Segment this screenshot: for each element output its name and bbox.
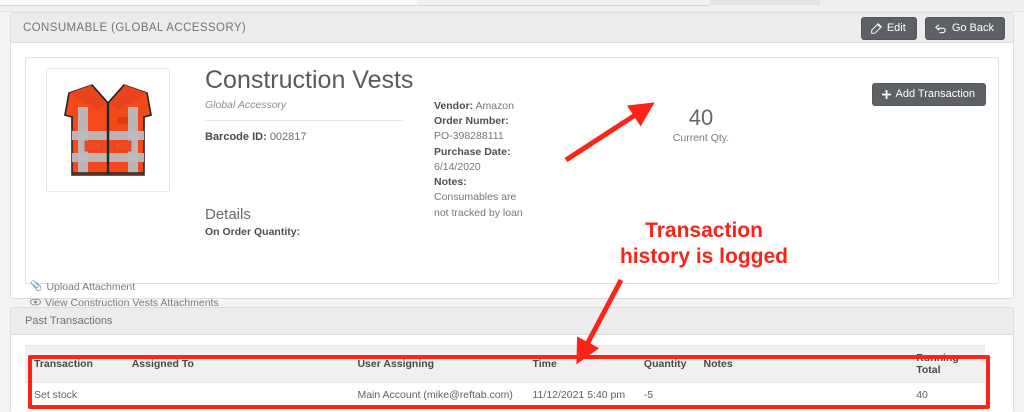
column-header-quantity[interactable]: Quantity <box>635 346 695 383</box>
cell-quantity: -5 <box>635 383 695 408</box>
asset-meta-block: Vendor: Amazon Order Number: PO-39828811… <box>434 99 544 221</box>
cell-notes <box>695 383 908 408</box>
go-back-button-label: Go Back <box>952 22 994 34</box>
details-heading: Details <box>205 206 300 223</box>
paperclip-icon: 📎 <box>30 279 42 295</box>
past-transactions-title: Past Transactions <box>25 315 112 327</box>
vendor-label: Vendor: <box>434 100 473 112</box>
cell-transaction: Set stock <box>25 383 123 408</box>
app-root: CONSUMABLE (GLOBAL ACCESSORY) Edit <box>0 0 1024 412</box>
asset-title-block: Construction Vests Global Accessory Barc… <box>205 66 425 143</box>
column-header-running-total[interactable]: Running Total <box>907 346 985 383</box>
upload-attachment-label: Upload Attachment <box>46 279 135 295</box>
edit-button[interactable]: Edit <box>861 17 917 40</box>
browser-tab-2 <box>418 0 709 6</box>
transactions-table: Transaction Assigned To User Assigning T… <box>25 345 985 408</box>
divider <box>205 120 403 121</box>
purchase-date-label: Purchase Date: <box>434 145 544 160</box>
vendor-row: Vendor: Amazon <box>434 99 544 114</box>
add-transaction-wrapper: Add Transaction <box>872 83 987 106</box>
column-header-user-assigning[interactable]: User Assigning <box>348 346 523 383</box>
upload-attachment-link[interactable]: 📎 Upload Attachment <box>30 279 219 295</box>
barcode-id-label: Barcode ID: <box>205 131 267 143</box>
current-quantity-label: Current Qty. <box>636 132 766 144</box>
add-transaction-label: Add Transaction <box>896 88 976 100</box>
asset-info-card: Construction Vests Global Accessory Barc… <box>25 57 999 284</box>
table-row[interactable]: Set stock Main Account (mike@reftab.com)… <box>25 383 985 408</box>
past-transactions-header: Past Transactions <box>11 308 1013 335</box>
cell-assigned-to <box>123 383 349 408</box>
asset-image <box>46 68 170 192</box>
notes-value-line-1: Consumables are <box>434 190 544 205</box>
table-header-row: Transaction Assigned To User Assigning T… <box>25 346 985 383</box>
current-quantity-value: 40 <box>636 106 766 130</box>
column-header-time[interactable]: Time <box>524 346 635 383</box>
barcode-id-row: Barcode ID: 002817 <box>205 131 425 143</box>
asset-name: Construction Vests <box>205 66 425 95</box>
pencil-icon <box>871 23 882 34</box>
column-header-transaction[interactable]: Transaction <box>25 346 123 383</box>
purchase-date-value: 6/14/2020 <box>434 160 544 175</box>
cell-running-total: 40 <box>907 383 985 408</box>
add-transaction-button[interactable]: Add Transaction <box>872 83 987 106</box>
barcode-id-value: 002817 <box>270 131 307 143</box>
order-number-label: Order Number: <box>434 114 544 129</box>
cell-user-assigning: Main Account (mike@reftab.com) <box>348 383 523 408</box>
consumable-panel: CONSUMABLE (GLOBAL ACCESSORY) Edit <box>10 12 1014 299</box>
on-order-quantity-label: On Order Quantity: <box>205 226 300 238</box>
asset-subtitle: Global Accessory <box>205 99 425 111</box>
page-title: CONSUMABLE (GLOBAL ACCESSORY) <box>23 22 246 34</box>
plus-icon <box>882 90 891 99</box>
notes-label: Notes: <box>434 175 544 190</box>
vendor-value: Amazon <box>475 100 514 112</box>
panel-header: CONSUMABLE (GLOBAL ACCESSORY) Edit <box>11 13 1013 43</box>
browser-tab-3 <box>710 0 820 5</box>
order-number-value: PO-398288111 <box>434 129 544 144</box>
column-header-assigned-to[interactable]: Assigned To <box>123 346 349 383</box>
column-header-notes[interactable]: Notes <box>695 346 908 383</box>
header-actions: Edit Go Back <box>861 17 1005 40</box>
browser-tab-1 <box>0 0 417 6</box>
current-quantity-block: 40 Current Qty. <box>636 106 766 144</box>
panel-body: Construction Vests Global Accessory Barc… <box>11 43 1013 298</box>
undo-arrow-icon <box>935 23 947 34</box>
go-back-button[interactable]: Go Back <box>925 17 1005 40</box>
past-transactions-panel: Past Transactions Transaction Assigned T… <box>10 307 1014 412</box>
edit-button-label: Edit <box>887 22 906 34</box>
details-block: Details On Order Quantity: <box>205 206 300 238</box>
cell-time: 11/12/2021 5:40 pm <box>524 383 635 408</box>
past-transactions-body: Transaction Assigned To User Assigning T… <box>11 335 1013 412</box>
notes-value-line-2: not tracked by loan <box>434 206 544 221</box>
